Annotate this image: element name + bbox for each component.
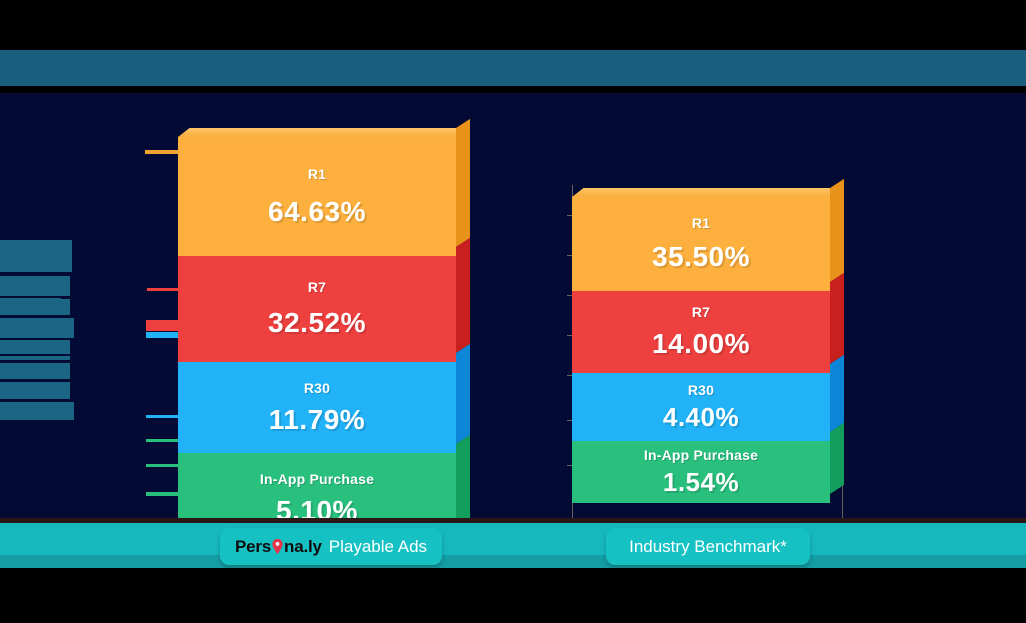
bar-face-r1: R1 64.63% (178, 137, 456, 256)
top-teal-band (0, 50, 1026, 86)
bar-top-face-r1 (178, 128, 468, 137)
bar-segment-r7[interactable]: R7 32.52% (178, 256, 456, 362)
bench-bar-side-face-r1 (830, 179, 844, 282)
segment-label-r7: R7 (308, 279, 326, 295)
bench-bar-side-face-iap (830, 423, 844, 494)
bench-bar-segment-iap[interactable]: In-App Purchase 1.54% (572, 441, 830, 503)
bench-segment-value-r1: 35.50% (652, 241, 750, 273)
bar-segment-r1[interactable]: R1 64.63% (178, 137, 456, 256)
screenshot-stage: R1 64.63% R7 32.52% R30 11.79% In-App Pu… (0, 0, 1026, 623)
plot-background (0, 93, 1026, 523)
bench-segment-label-iap: In-App Purchase (644, 447, 758, 463)
bench-bar-face-iap: In-App Purchase 1.54% (572, 441, 830, 503)
obscured-text-block (0, 240, 78, 395)
bench-segment-label-r30: R30 (688, 382, 714, 398)
bar-side-face-r30 (456, 344, 470, 444)
legend-chip-benchmark[interactable]: Industry Benchmark* (606, 528, 810, 565)
segment-label-r30: R30 (304, 380, 330, 396)
personaly-logo: Persna.ly (235, 537, 322, 557)
location-pin-icon (272, 539, 283, 554)
bar-segment-r30[interactable]: R30 11.79% (178, 362, 456, 453)
brand-text-head: Pers (235, 537, 271, 557)
benchmark-stacked-bar[interactable]: R1 35.50% R7 14.00% R30 4.40% In-App Pur… (572, 188, 830, 518)
segment-value-r7: 32.52% (268, 307, 366, 339)
bench-segment-label-r1: R1 (692, 215, 710, 231)
bar-face-r30: R30 11.79% (178, 362, 456, 453)
bar-face-r7: R7 32.52% (178, 256, 456, 362)
segment-label-iap: In-App Purchase (260, 471, 374, 487)
segment-value-r1: 64.63% (268, 196, 366, 228)
legend-band-shadow (0, 555, 1026, 568)
brand-text-tail: na.ly (284, 537, 322, 557)
personaly-stacked-bar[interactable]: R1 64.63% R7 32.52% R30 11.79% In-App Pu… (178, 128, 456, 518)
bench-segment-value-iap: 1.54% (663, 467, 739, 498)
bench-segment-value-r7: 14.00% (652, 328, 750, 360)
legend-chip-personaly[interactable]: Persna.ly Playable Ads (220, 528, 442, 565)
bench-bar-face-r30: R30 4.40% (572, 373, 830, 441)
bench-bar-segment-r7[interactable]: R7 14.00% (572, 291, 830, 373)
bench-bar-side-face-r7 (830, 273, 844, 364)
bar-side-face-r1 (456, 119, 470, 247)
bench-segment-label-r7: R7 (692, 304, 710, 320)
top-divider-band (0, 86, 1026, 93)
bench-bar-segment-r1[interactable]: R1 35.50% (572, 197, 830, 291)
bench-bar-side-face-r30 (830, 355, 844, 432)
top-black-band (0, 0, 1026, 50)
benchmark-chip-label: Industry Benchmark* (629, 537, 787, 557)
bench-bar-segment-r30[interactable]: R30 4.40% (572, 373, 830, 441)
bar-side-face-r7 (456, 238, 470, 353)
segment-label-r1: R1 (308, 166, 326, 182)
bench-segment-value-r30: 4.40% (663, 402, 739, 433)
bench-bar-face-r1: R1 35.50% (572, 197, 830, 291)
bottom-black-band (0, 568, 1026, 623)
bench-bar-top-face-r1 (572, 188, 842, 197)
segment-value-r30: 11.79% (269, 404, 365, 436)
personaly-chip-suffix: Playable Ads (329, 537, 427, 557)
bench-bar-face-r7: R7 14.00% (572, 291, 830, 373)
